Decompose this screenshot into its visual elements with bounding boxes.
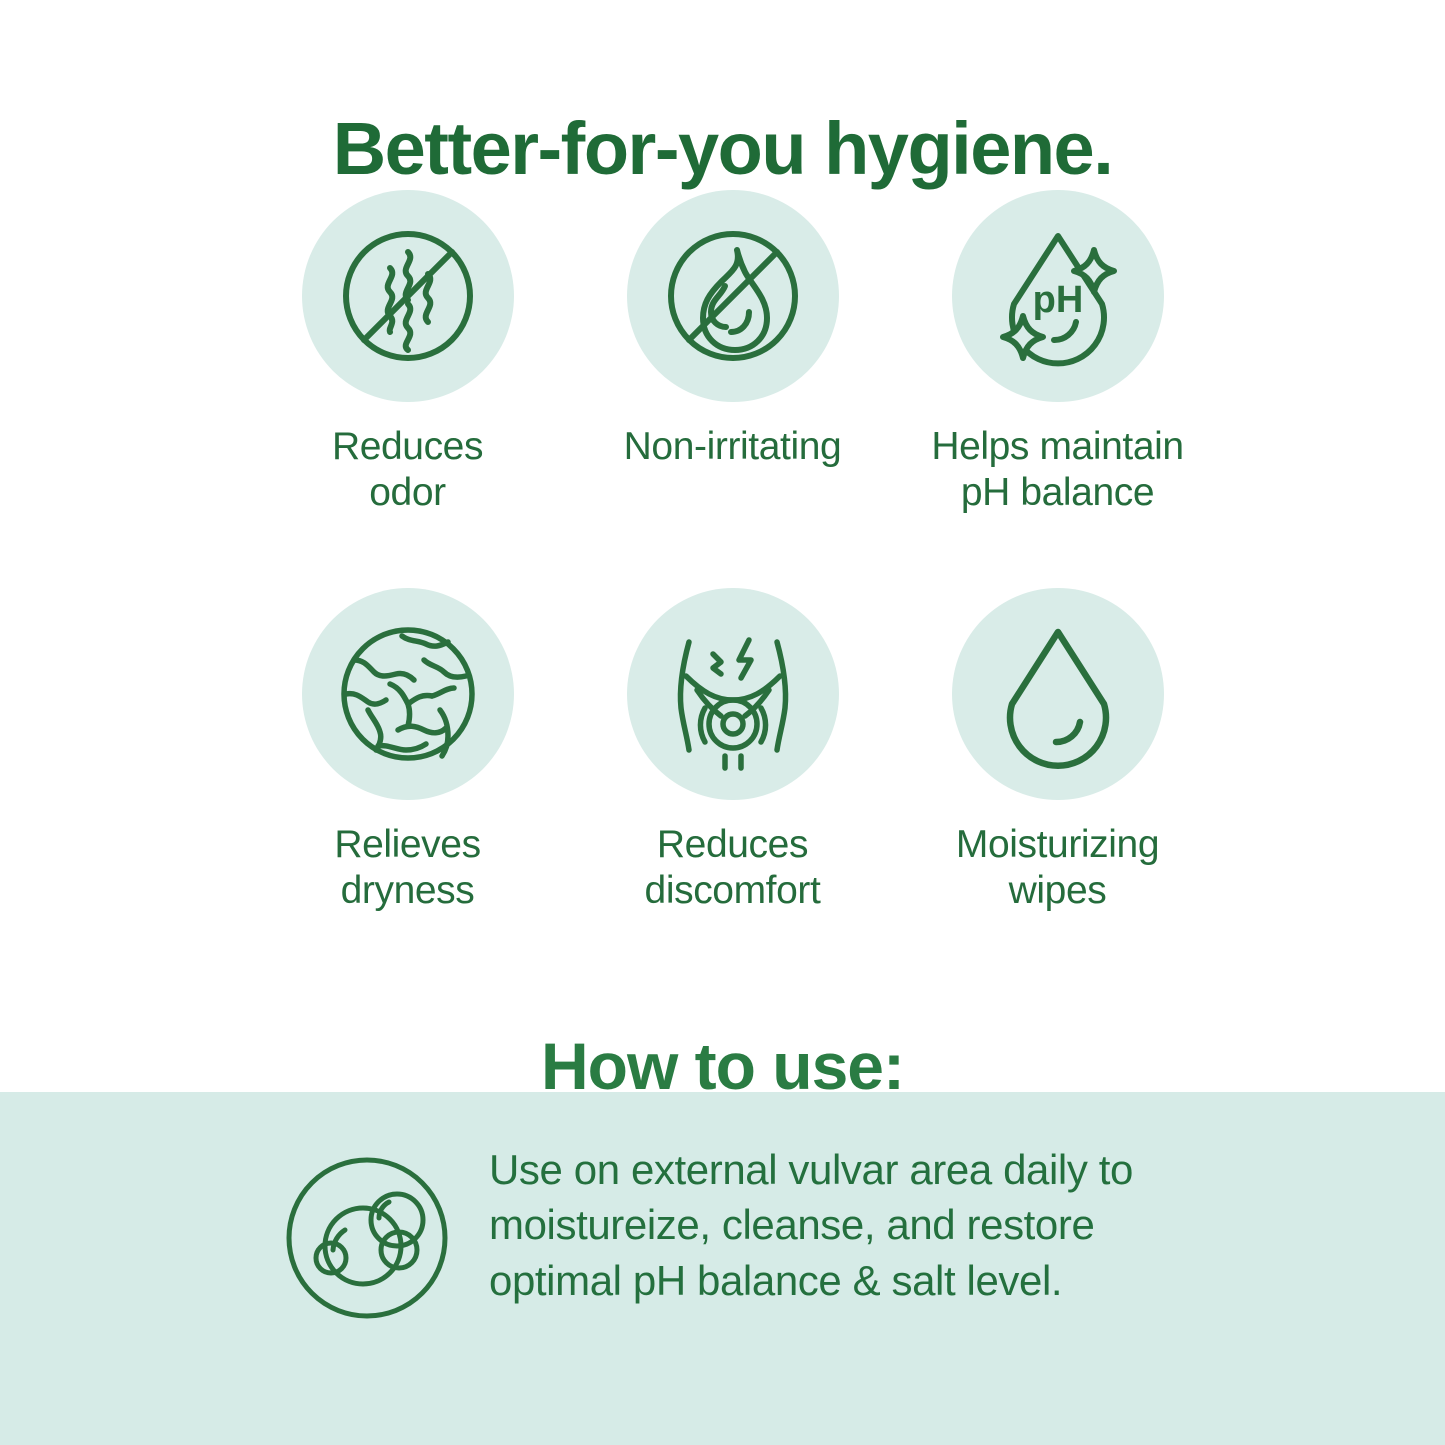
benefit-item: Reduces odor xyxy=(245,190,570,516)
infographic-page: Better-for-you hygiene. Reduces odor xyxy=(0,0,1445,1445)
benefit-item: pH Helps maintain pH balance xyxy=(895,190,1220,516)
benefit-label: Moisturizing wipes xyxy=(956,822,1159,914)
ph-text: pH xyxy=(1032,279,1083,321)
how-to-use-band: Use on external vulvar area daily to moi… xyxy=(0,1092,1445,1445)
benefit-label: Non-irritating xyxy=(624,424,842,470)
benefit-label: Reduces discomfort xyxy=(645,822,821,914)
benefits-grid: Reduces odor Non-irritating xyxy=(245,190,1220,914)
benefit-label: Relieves dryness xyxy=(334,822,480,914)
how-to-use-content: Use on external vulvar area daily to moi… xyxy=(283,1142,1133,1322)
how-to-use-instruction: Use on external vulvar area daily to moi… xyxy=(489,1142,1133,1308)
benefit-item: Reduces discomfort xyxy=(570,588,895,914)
water-droplet-icon xyxy=(952,588,1164,800)
no-odor-icon xyxy=(302,190,514,402)
benefit-item: Relieves dryness xyxy=(245,588,570,914)
pelvic-discomfort-icon xyxy=(627,588,839,800)
page-title: Better-for-you hygiene. xyxy=(0,112,1445,186)
dry-skin-icon xyxy=(302,588,514,800)
benefit-item: Non-irritating xyxy=(570,190,895,516)
benefit-item: Moisturizing wipes xyxy=(895,588,1220,914)
how-to-use-heading: How to use: xyxy=(0,1033,1445,1099)
benefit-label: Reduces odor xyxy=(332,424,483,516)
bubbles-icon xyxy=(283,1154,451,1322)
benefit-label: Helps maintain pH balance xyxy=(931,424,1183,516)
ph-droplet-icon: pH xyxy=(952,190,1164,402)
no-flame-icon xyxy=(627,190,839,402)
